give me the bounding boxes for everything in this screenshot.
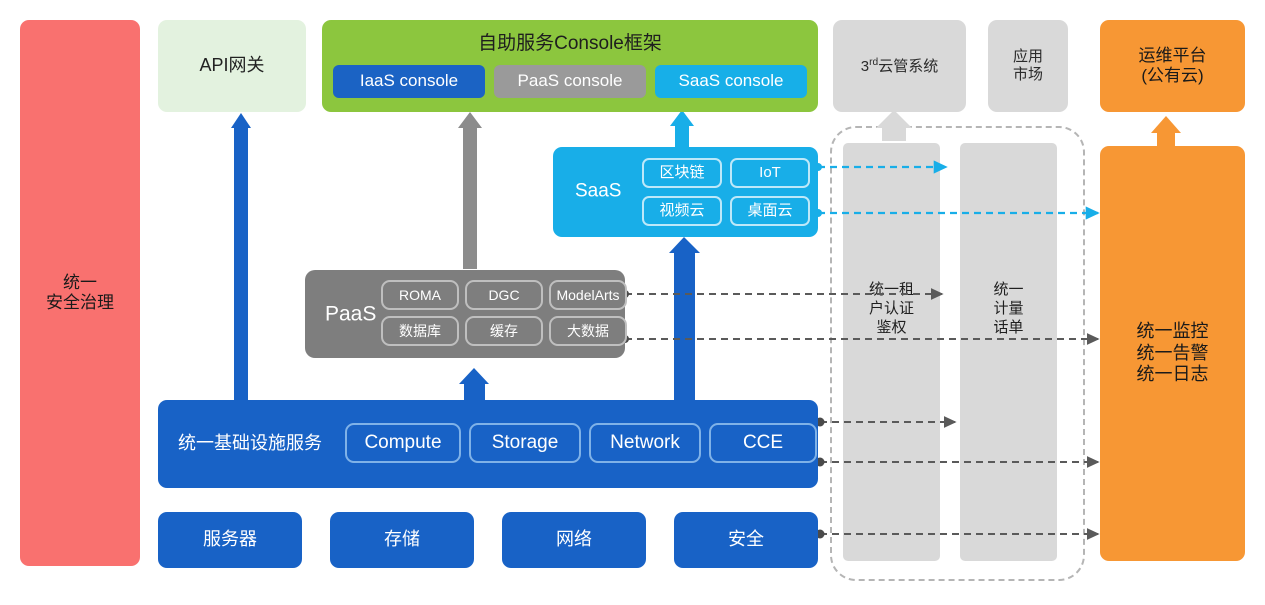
infra-box-security[interactable]: 安全 <box>674 512 818 568</box>
paas-item-roma[interactable]: ROMA <box>381 280 459 310</box>
arrow-saas-to-console <box>670 110 694 150</box>
saas-label: SaaS <box>575 181 621 204</box>
arrow-iaas-to-saas <box>669 237 700 410</box>
infra-box-network-label: 网络 <box>556 529 592 551</box>
saas-console-button[interactable]: SaaS console <box>655 65 807 98</box>
app-market-line2: 市场 <box>1013 66 1043 84</box>
ops-platform-body-box: 统一监控 统一告警 统一日志 <box>1100 146 1245 561</box>
third-party-superscript: rd <box>869 57 878 68</box>
api-gateway-box: API网关 <box>158 20 306 112</box>
unified-security-governance-panel: 统一 安全治理 <box>20 20 140 566</box>
app-market-box: 应用 市场 <box>988 20 1068 112</box>
shared-column-tenant-auth: 统一租 户认证 鉴权 <box>843 143 940 561</box>
paas-item-dgc-label: DGC <box>488 287 519 304</box>
iaas-item-compute[interactable]: Compute <box>345 423 461 463</box>
architecture-diagram: 统一租 户认证 鉴权 统一 计量 话单 <box>0 0 1265 605</box>
paas-item-modelarts[interactable]: ModelArts <box>549 280 627 310</box>
ops-platform-top-box: 运维平台 (公有云) <box>1100 20 1245 112</box>
arrow-ops-body-to-ops-top <box>1151 116 1181 148</box>
shared-column-metering: 统一 计量 话单 <box>960 143 1057 561</box>
saas-item-desktop-cloud[interactable]: 桌面云 <box>730 196 810 226</box>
paas-item-bigdata-label: 大数据 <box>567 323 609 340</box>
third-party-label: 3rd云管系统 <box>861 57 938 76</box>
iaas-console-label: IaaS console <box>360 71 458 91</box>
iaas-item-cce-label: CCE <box>743 432 783 455</box>
saas-item-iot-label: IoT <box>759 164 781 182</box>
iaas-item-storage-label: Storage <box>492 432 559 455</box>
saas-console-label: SaaS console <box>679 71 784 91</box>
infra-box-server-label: 服务器 <box>203 529 257 551</box>
shared-column-tenant-auth-label: 统一租 户认证 鉴权 <box>843 281 940 337</box>
unified-security-line2: 安全治理 <box>46 293 114 313</box>
paas-item-modelarts-label: ModelArts <box>556 287 619 304</box>
ops-platform-line2: (公有云) <box>1141 66 1203 86</box>
app-market-line1: 应用 <box>1013 48 1043 66</box>
ops-body-line3: 统一日志 <box>1137 364 1209 386</box>
iaas-item-network[interactable]: Network <box>589 423 701 463</box>
iaas-item-network-label: Network <box>610 432 680 455</box>
iaas-item-storage[interactable]: Storage <box>469 423 581 463</box>
self-service-console-frame: 自助服务Console框架 IaaS console PaaS console … <box>322 20 818 112</box>
paas-item-roma-label: ROMA <box>399 287 441 304</box>
arrow-iaas-to-apigateway <box>231 113 251 412</box>
paas-item-cache-label: 缓存 <box>490 323 518 340</box>
console-frame-title: 自助服务Console框架 <box>322 33 818 56</box>
infra-box-storage-label: 存储 <box>384 529 420 551</box>
saas-item-iot[interactable]: IoT <box>730 158 810 188</box>
saas-block: SaaS 区块链 IoT 视频云 桌面云 <box>553 147 818 237</box>
iaas-console-button[interactable]: IaaS console <box>333 65 485 98</box>
saas-item-blockchain[interactable]: 区块链 <box>642 158 722 188</box>
infra-box-network[interactable]: 网络 <box>502 512 646 568</box>
paas-console-button[interactable]: PaaS console <box>494 65 646 98</box>
third-party-cloud-mgmt-box: 3rd云管系统 <box>833 20 966 112</box>
paas-item-cache[interactable]: 缓存 <box>465 316 543 346</box>
paas-item-database-label: 数据库 <box>399 323 441 340</box>
paas-item-bigdata[interactable]: 大数据 <box>549 316 627 346</box>
infra-box-storage[interactable]: 存储 <box>330 512 474 568</box>
iaas-item-compute-label: Compute <box>364 432 441 455</box>
ops-platform-line1: 运维平台 <box>1139 46 1207 66</box>
saas-item-video-cloud-label: 视频云 <box>659 202 704 220</box>
arrow-paas-to-console <box>458 112 482 269</box>
api-gateway-label: API网关 <box>199 55 264 77</box>
saas-item-video-cloud[interactable]: 视频云 <box>642 196 722 226</box>
iaas-band-label: 统一基础设施服务 <box>178 433 322 455</box>
ops-body-line2: 统一告警 <box>1137 343 1209 365</box>
paas-block: PaaS ROMA DGC ModelArts 数据库 缓存 大数据 <box>305 270 625 358</box>
paas-item-database[interactable]: 数据库 <box>381 316 459 346</box>
infra-box-security-label: 安全 <box>728 529 764 551</box>
infra-box-server[interactable]: 服务器 <box>158 512 302 568</box>
iaas-item-cce[interactable]: CCE <box>709 423 817 463</box>
ops-body-line1: 统一监控 <box>1137 321 1209 343</box>
unified-security-line1: 统一 <box>63 273 97 293</box>
paas-label: PaaS <box>325 301 376 326</box>
paas-console-label: PaaS console <box>518 71 623 91</box>
saas-item-blockchain-label: 区块链 <box>659 164 704 182</box>
paas-item-dgc[interactable]: DGC <box>465 280 543 310</box>
saas-item-desktop-cloud-label: 桌面云 <box>747 202 792 220</box>
shared-column-metering-label: 统一 计量 话单 <box>960 281 1057 337</box>
iaas-unified-infra-band: 统一基础设施服务 Compute Storage Network CCE <box>158 400 818 488</box>
